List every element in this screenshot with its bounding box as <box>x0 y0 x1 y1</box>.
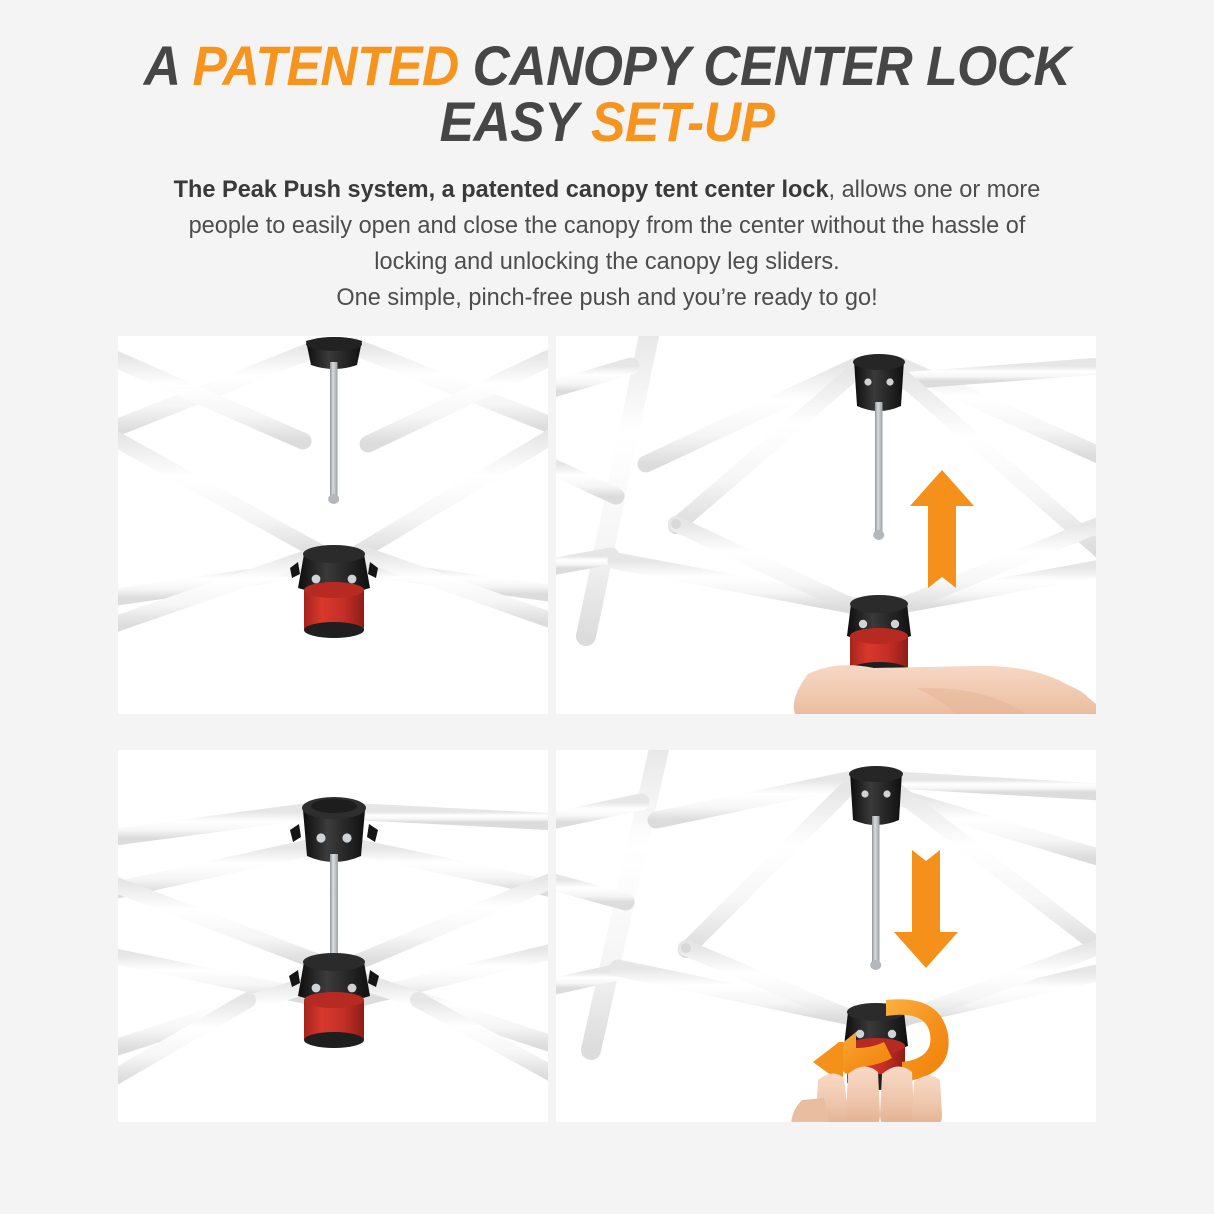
description-bold-lead: The Peak Push system, a patented canopy … <box>174 176 829 203</box>
headline-highlight-patented: PATENTED <box>192 34 458 97</box>
panel-push-up <box>556 336 1096 714</box>
photo-grid <box>0 326 1214 1146</box>
red-center-lock <box>304 582 364 638</box>
infographic-page: A PATENTED CANOPY CENTER LOCK EASY SET-U… <box>0 0 1214 1214</box>
headline-text-canopy-center-lock: CANOPY CENTER LOCK <box>459 34 1070 97</box>
page-title: A PATENTED CANOPY CENTER LOCK EASY SET-U… <box>101 0 1113 150</box>
description-line-3: locking and unlocking the canopy leg sli… <box>93 244 1120 280</box>
headline-line-1: A PATENTED CANOPY CENTER LOCK <box>101 38 1113 94</box>
headline-line-2: EASY SET-UP <box>101 94 1113 150</box>
description-line-1: The Peak Push system, a patented canopy … <box>93 172 1120 208</box>
headline-text-a: A <box>144 34 193 97</box>
headline-highlight-setup: SET-UP <box>591 90 774 153</box>
panel-locked <box>118 750 548 1122</box>
description-line-2: people to easily open and close the cano… <box>93 208 1120 244</box>
panel-push-down <box>556 750 1096 1122</box>
short-rod <box>330 854 338 964</box>
description-line-1-rest: , allows one or more <box>829 176 1041 203</box>
headline-text-easy: EASY <box>440 90 591 153</box>
description-paragraph: The Peak Push system, a patented canopy … <box>93 172 1120 316</box>
panel-collapsed <box>118 336 548 714</box>
red-center-lock <box>304 992 364 1048</box>
description-line-4: One simple, pinch-free push and you’re r… <box>93 280 1120 316</box>
